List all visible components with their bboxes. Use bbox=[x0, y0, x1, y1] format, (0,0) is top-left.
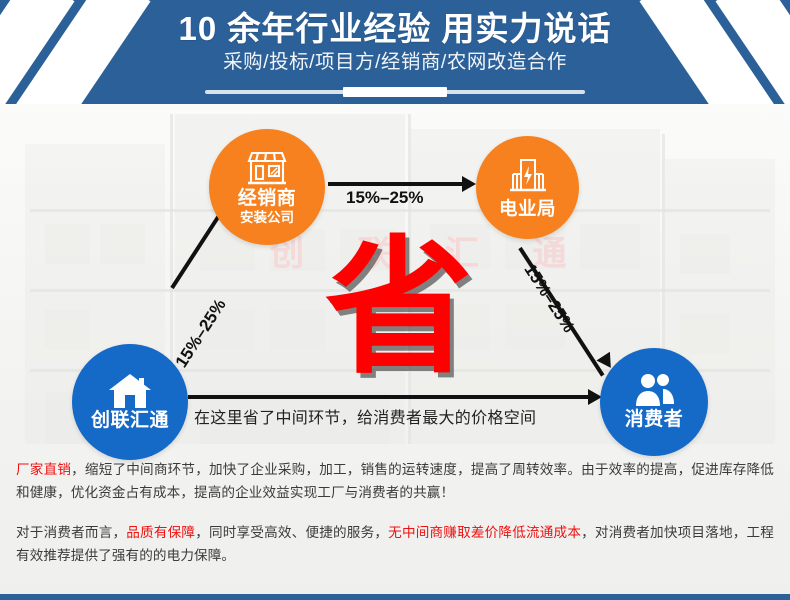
header-divider-rule bbox=[205, 90, 585, 94]
house-icon bbox=[108, 373, 152, 409]
arrow-label-brand-to-consumer: 在这里省了中间环节，给消费者最大的价格空间 bbox=[194, 404, 536, 428]
node-consumer-label: 消费者 bbox=[625, 409, 684, 431]
arrow-label-brand-to-dealer: 15%–25% bbox=[172, 296, 231, 372]
paragraph-2-highlight-2: 无中间商赚取差价降低流通成本 bbox=[388, 525, 581, 540]
promo-infographic-page: 10 余年行业经验 用实力说话 采购/投标/项目方/经销商/农网改造合作 bbox=[0, 0, 790, 600]
diagram-node-power-bureau[interactable]: 电业局 bbox=[476, 136, 579, 239]
center-savings-character: 省 bbox=[325, 234, 473, 382]
diagram-node-consumer[interactable]: 消费者 bbox=[600, 348, 708, 456]
arrow-dealer-to-bureau-head bbox=[462, 176, 476, 192]
body-text-block: 厂家直销，缩短了中间商环节，加快了企业采购，加工，销售的运转速度，提高了周转效率… bbox=[0, 458, 790, 567]
power-building-icon bbox=[508, 156, 548, 196]
arrow-label-bureau-to-consumer: 15%–25% bbox=[520, 261, 579, 337]
supply-chain-diagram: 15%–25% 在这里省了中间环节，给消费者最大的价格空间 15%–25% 15… bbox=[0, 104, 790, 454]
node-dealer-label: 经销商 bbox=[238, 188, 297, 210]
paragraph-1-rest: ，缩短了中间商环节，加快了企业采购，加工，销售的运转速度，提高了周转效率。由于效… bbox=[16, 462, 774, 500]
arrow-brand-to-consumer-line bbox=[188, 395, 596, 399]
header-banner: 10 余年行业经验 用实力说话 采购/投标/项目方/经销商/农网改造合作 bbox=[0, 0, 790, 104]
diagram-node-dealer[interactable]: 经销商 安装公司 bbox=[209, 129, 325, 245]
paragraph-2-lead: 对于消费者而言， bbox=[16, 525, 126, 540]
diagram-node-brand[interactable]: 创联汇通 bbox=[72, 344, 188, 460]
arrow-dealer-to-bureau-line bbox=[328, 182, 470, 186]
node-dealer-sublabel: 安装公司 bbox=[240, 210, 294, 226]
users-icon bbox=[633, 373, 675, 407]
footer-accent-bar bbox=[0, 594, 790, 600]
storefront-icon bbox=[245, 149, 289, 187]
node-bureau-label: 电业局 bbox=[499, 198, 556, 219]
header-subtitle: 采购/投标/项目方/经销商/农网改造合作 bbox=[0, 49, 790, 75]
node-brand-label: 创联汇通 bbox=[91, 410, 169, 432]
header-title: 10 余年行业经验 用实力说话 bbox=[0, 9, 790, 49]
header-text-block: 10 余年行业经验 用实力说话 采购/投标/项目方/经销商/农网改造合作 bbox=[0, 0, 790, 75]
paragraph-2-highlight-1: 品质有保障 bbox=[126, 525, 195, 540]
paragraph-2-mid: ，同时享受高效、便捷的服务， bbox=[195, 525, 388, 540]
arrow-label-dealer-to-bureau: 15%–25% bbox=[346, 188, 424, 208]
paragraph-1: 厂家直销，缩短了中间商环节，加快了企业采购，加工，销售的运转速度，提高了周转效率… bbox=[16, 458, 774, 504]
paragraph-1-highlight: 厂家直销 bbox=[16, 462, 71, 477]
paragraph-2: 对于消费者而言，品质有保障，同时享受高效、便捷的服务，无中间商赚取差价降低流通成… bbox=[16, 521, 774, 567]
